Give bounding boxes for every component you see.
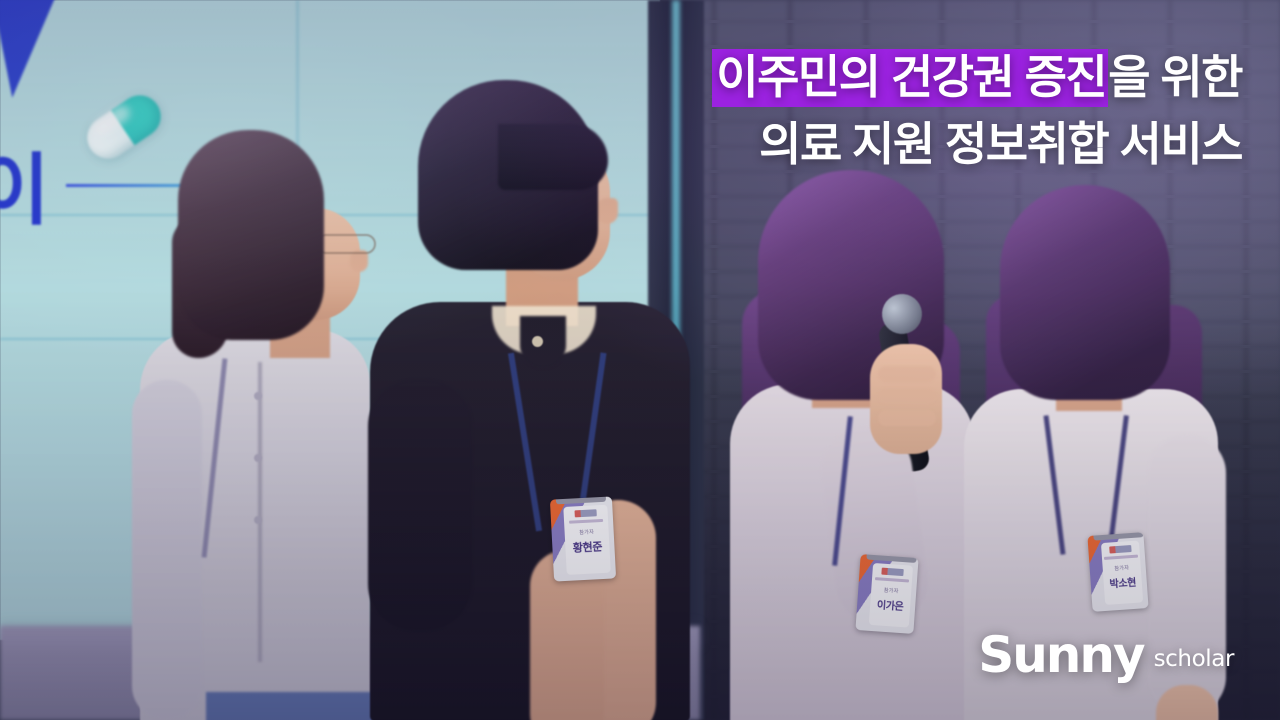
title-highlight: 이주민의 건강권 증진: [712, 49, 1108, 107]
sunny-scholar-logo: Sunny scholar: [978, 632, 1234, 678]
person-1-arm: [132, 380, 202, 720]
badge-role: 참가자: [884, 587, 899, 595]
person-2-nose: [596, 198, 618, 224]
person-1-button: [254, 392, 262, 400]
person-1-jeans: [206, 692, 376, 720]
badge-logo-icon: [574, 509, 596, 517]
badge-name: 이가은: [877, 596, 904, 613]
title-line-1-rest: 을 위한: [1108, 51, 1242, 103]
badge-name: 박소현: [1109, 574, 1136, 591]
person-3: [700, 170, 1000, 720]
person-2-button: [532, 336, 543, 347]
slide-title: 이주민의 건강권 증진을 위한 의료 지원 정보취합 서비스: [712, 44, 1242, 178]
badge-card: 참가자 박소현: [1101, 540, 1143, 604]
person-4-hair: [1000, 185, 1170, 400]
person-1-button: [254, 454, 262, 462]
person-1: [120, 130, 390, 720]
badge-role: 참가자: [579, 528, 594, 536]
video-frame: 이: [0, 0, 1280, 720]
title-line-1: 이주민의 건강권 증진을 위한: [712, 44, 1242, 111]
badge-role: 참가자: [1114, 564, 1129, 572]
badge-card: 참가자 황현준: [563, 505, 610, 575]
name-badge: 참가자 황현준: [550, 496, 616, 581]
person-3-finger: [878, 410, 936, 426]
person-2-fringe: [498, 124, 608, 190]
person-1-hair: [178, 130, 324, 340]
person-3-finger: [878, 366, 936, 382]
badge-logo-icon: [881, 568, 903, 577]
badge-microtext: [569, 519, 603, 524]
badge-name: 황현준: [572, 538, 602, 556]
person-2-collar-v: [520, 316, 566, 368]
name-badge: 참가자 박소현: [1087, 532, 1148, 612]
screen-partial-text: 이: [0, 128, 51, 240]
logo-sub-text: scholar: [1154, 648, 1234, 678]
person-1-shirt-placket: [258, 362, 262, 662]
person-2-left-arm: [368, 380, 472, 630]
badge-microtext: [875, 577, 909, 582]
person-2: [380, 80, 700, 720]
badge-microtext: [1104, 555, 1138, 560]
name-badge: 참가자 이가은: [855, 554, 918, 634]
glasses-icon: [316, 234, 376, 254]
badge-card: 참가자 이가은: [869, 563, 913, 628]
badge-logo-icon: [1109, 545, 1131, 554]
person-1-button: [254, 516, 262, 524]
person-3-finger: [878, 388, 936, 404]
logo-brand-text: Sunny: [978, 632, 1143, 678]
title-line-2: 의료 지원 정보취합 서비스: [712, 111, 1242, 178]
